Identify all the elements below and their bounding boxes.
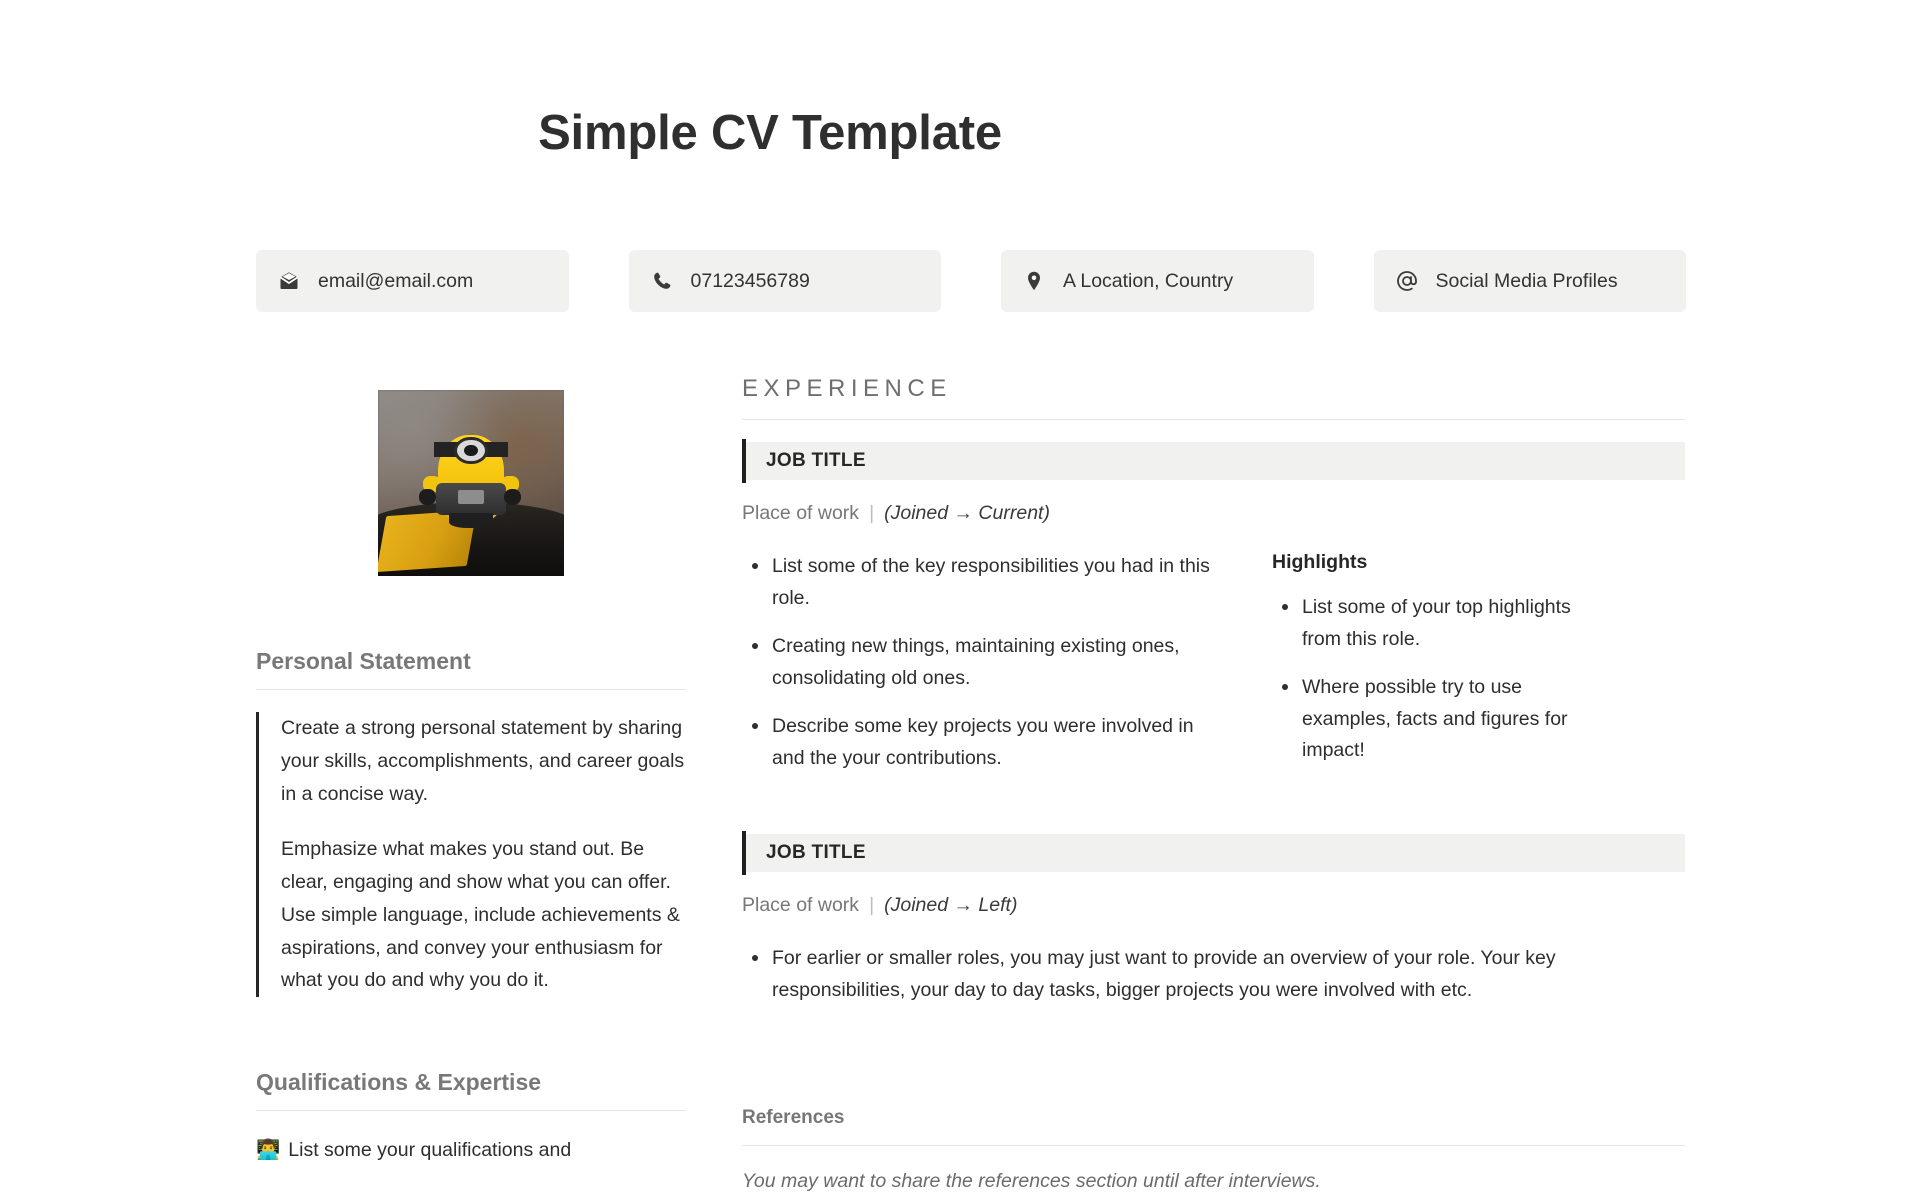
job-responsibilities: List some of the key responsibilities yo… [742,551,1212,774]
responsibility-list: List some of the key responsibilities yo… [742,551,1212,774]
qualifications-divider [256,1110,686,1111]
list-item: List some of the key responsibilities yo… [742,551,1212,614]
qualifications-heading: Qualifications & Expertise [256,1069,686,1096]
personal-statement-paragraph: Create a strong personal statement by sh… [281,712,686,810]
contact-label-location: A Location, Country [1063,270,1233,293]
job-meta-separator: | [869,894,874,917]
job-highlights: Highlights List some of your top highlig… [1272,551,1572,774]
job-title: JOB TITLE [766,842,866,864]
job-accent-bar [742,439,746,483]
photo-minion-hand-left [419,489,436,506]
cv-page: Simple CV Template email@email.com 07123… [0,0,1920,1199]
personal-statement-heading: Personal Statement [256,648,686,675]
list-item: Where possible try to use examples, fact… [1272,672,1572,767]
highlights-title: Highlights [1272,551,1572,574]
list-item: Describe some key projects you were invo… [742,711,1212,774]
location-pin-icon [1023,270,1045,292]
contact-label-phone: 07123456789 [691,270,810,293]
highlights-list: List some of your top highlights from th… [1272,592,1572,767]
photo-minion-hand-right [504,489,521,506]
contact-card-email[interactable]: email@email.com [256,250,569,312]
contact-card-phone[interactable]: 07123456789 [629,250,942,312]
references-divider [742,1145,1685,1146]
job-entry: JOB TITLE Place of work | (Joined → Curr… [742,442,1685,774]
job-meta: Place of work | (Joined → Left) [742,894,1685,917]
photo-minion-legs [449,513,494,528]
experience-section-title: EXPERIENCE [742,375,1685,403]
job-responsibilities: For earlier or smaller roles, you may ju… [742,943,1685,1006]
personal-statement-quote: Create a strong personal statement by sh… [256,712,686,997]
responsibility-list: For earlier or smaller roles, you may ju… [742,943,1685,1006]
references-section: References You may want to share the ref… [742,1107,1685,1193]
contact-card-location[interactable]: A Location, Country [1001,250,1314,312]
photo-minion-pocket [458,490,484,505]
list-item: Creating new things, maintaining existin… [742,631,1212,694]
job-title: JOB TITLE [766,450,866,472]
phone-icon [651,270,673,292]
job-title-bar: JOB TITLE [742,442,1685,480]
sidebar: Personal Statement Create a strong perso… [256,390,686,1166]
experience-section-divider [742,419,1685,420]
profile-photo-wrap [256,390,686,576]
qualifications-item-text: List some your qualifications and [288,1135,571,1166]
qualifications-item: 👨‍💻 List some your qualifications and [256,1135,686,1166]
job-place: Place of work [742,502,859,525]
job-place: Place of work [742,894,859,917]
references-heading: References [742,1107,1685,1129]
job-meta: Place of work | (Joined → Current) [742,502,1685,525]
contact-card-social[interactable]: Social Media Profiles [1374,250,1687,312]
personal-statement-paragraph: Emphasize what makes you stand out. Be c… [281,833,686,997]
at-sign-icon [1396,270,1418,292]
person-computer-emoji-icon: 👨‍💻 [256,1135,280,1166]
profile-photo [378,390,564,576]
job-entry: JOB TITLE Place of work | (Joined → Left… [742,834,1685,1006]
list-item: List some of your top highlights from th… [1272,592,1572,655]
contact-row: email@email.com 07123456789 A Location, … [256,250,1686,312]
main-column: EXPERIENCE JOB TITLE Place of work | (Jo… [742,375,1685,1193]
page-title: Simple CV Template [0,105,1540,161]
job-meta-separator: | [869,502,874,525]
photo-minion-pupil [464,445,477,456]
references-note: You may want to share the references sec… [742,1170,1685,1193]
job-accent-bar [742,831,746,875]
list-item: For earlier or smaller roles, you may ju… [742,943,1685,1006]
contact-label-social: Social Media Profiles [1436,270,1618,293]
job-dates: (Joined → Left) [884,894,1017,917]
contact-label-email: email@email.com [318,270,473,293]
job-dates: (Joined → Current) [884,502,1050,525]
job-columns: List some of the key responsibilities yo… [742,551,1685,774]
job-title-bar: JOB TITLE [742,834,1685,872]
personal-statement-divider [256,689,686,690]
envelope-icon [278,270,300,292]
